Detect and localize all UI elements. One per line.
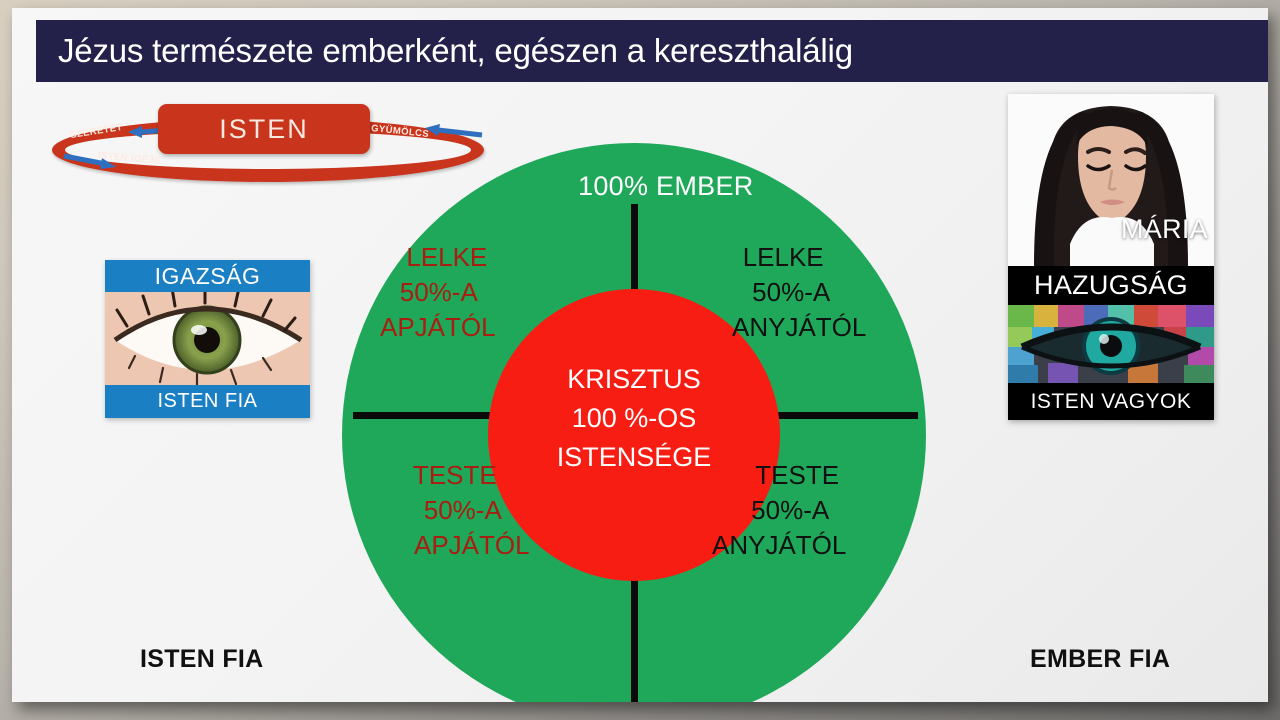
venn-center-line2: 100 %-OS — [488, 399, 780, 438]
slide-title-bar: Jézus természete emberként, egészen a ke… — [36, 20, 1268, 82]
cross-line-bottom — [631, 567, 638, 702]
hazugsag-band: HAZUGSÁG — [1008, 266, 1214, 305]
quadrant-top-right-line1: LELKE — [700, 240, 866, 275]
quadrant-top-right-line2: 50%-A — [716, 275, 866, 310]
slide-stage: Jézus természete emberként, egészen a ke… — [0, 0, 1280, 720]
mosaic-eye-illustration — [1008, 305, 1214, 383]
isten-cycle-diagram: SZERETET ISTEN IGÉJE GYÜMÖLCS ISTEN — [48, 104, 488, 186]
isten-center-label: ISTEN — [219, 114, 309, 145]
isten-fia-caption: ISTEN FIA — [105, 385, 310, 418]
arrow-gyumolcs-icon — [422, 122, 484, 140]
venn-top-label: 100% EMBER — [578, 171, 754, 202]
igazsag-caption: IGAZSÁG — [105, 260, 310, 292]
cross-line-top — [631, 204, 638, 300]
quadrant-bottom-right-line3: ANYJÁTÓL — [712, 528, 846, 563]
cross-line-left — [353, 412, 493, 419]
quadrant-top-left-line2: 50%-A — [382, 275, 496, 310]
slide-sheet: Jézus természete emberként, egészen a ke… — [12, 8, 1268, 702]
isten-vagyok-band: ISTEN VAGYOK — [1008, 383, 1214, 420]
maria-photo-stack: MÁRIA HAZUGSÁG — [1008, 94, 1214, 420]
quadrant-top-left-line1: LELKE — [398, 240, 496, 275]
quadrant-top-left-line3: APJÁTÓL — [380, 310, 496, 345]
mosaic-eye-photo — [1008, 305, 1214, 383]
quadrant-top-right: LELKE 50%-A ANYJÁTÓL — [698, 240, 866, 344]
venn-center-text: KRISZTUS 100 %-OS ISTENSÉGE — [488, 360, 780, 477]
quadrant-bottom-right-line2: 50%-A — [734, 493, 846, 528]
igazsag-photo-card: IGAZSÁG ISTEN FIA — [105, 260, 310, 418]
page-title: Jézus természete emberként, egészen a ke… — [58, 32, 853, 70]
quadrant-top-right-line3: ANYJÁTÓL — [732, 310, 866, 345]
venn-center-line1: KRISZTUS — [488, 360, 780, 399]
footer-label-ember-fia: EMBER FIA — [1030, 645, 1170, 674]
quadrant-bottom-left-line3: APJÁTÓL — [414, 528, 530, 563]
footer-label-isten-fia: ISTEN FIA — [140, 645, 264, 674]
maria-caption: MÁRIA — [1121, 214, 1208, 245]
isten-center-box: ISTEN — [158, 104, 370, 154]
quadrant-top-left: LELKE 50%-A APJÁTÓL — [380, 240, 496, 344]
quadrant-bottom-left-line2: 50%-A — [396, 493, 530, 528]
venn-center-line3: ISTENSÉGE — [488, 438, 780, 477]
cross-line-right — [775, 412, 918, 419]
